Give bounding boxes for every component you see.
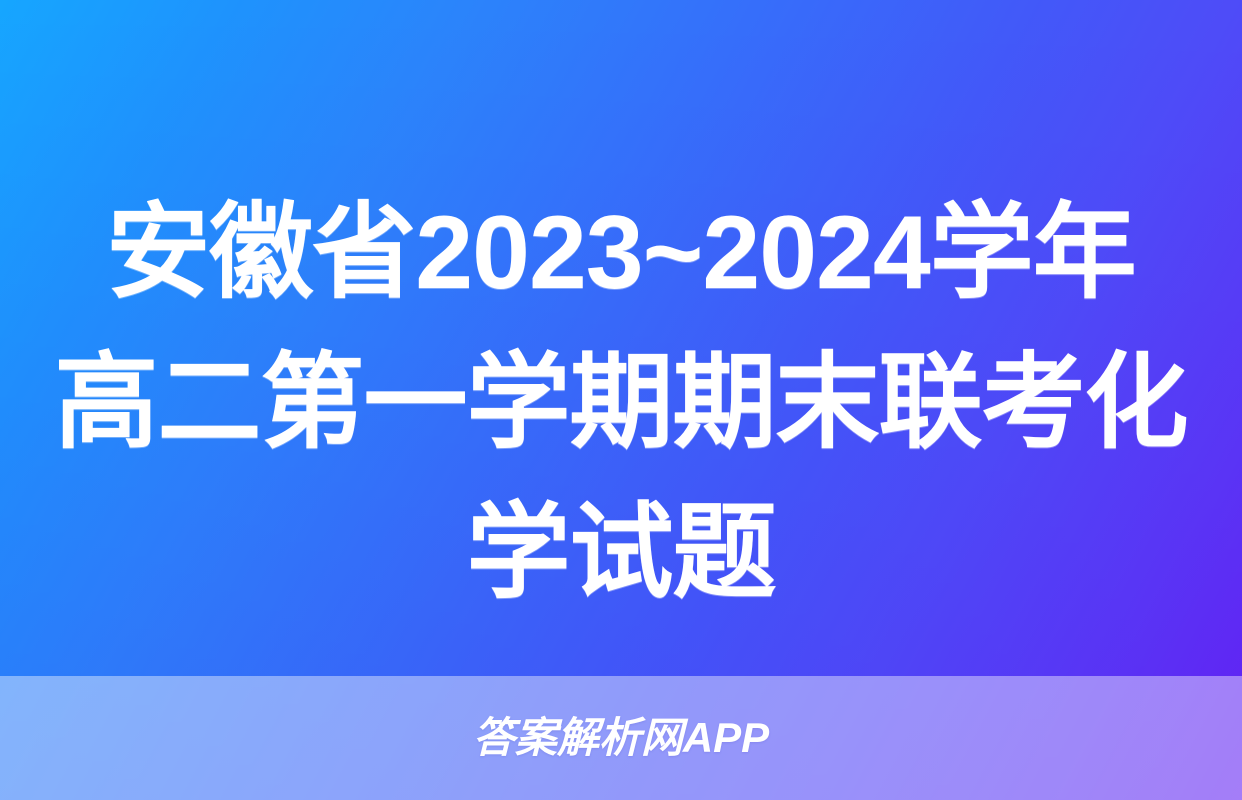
page-title: 安徽省2023~2024学年 高二第一学期期末联考化 学试题 [0, 178, 1242, 628]
title-line-2: 高二第一学期期末联考化 [48, 328, 1194, 478]
title-line-1: 安徽省2023~2024学年 [48, 178, 1194, 328]
footer-watermark-band: 答案解析网APP [0, 676, 1242, 800]
title-line-3: 学试题 [48, 478, 1194, 628]
footer-watermark-text: 答案解析网APP [473, 717, 769, 759]
title-card: 安徽省2023~2024学年 高二第一学期期末联考化 学试题 答案解析网APP [0, 0, 1242, 800]
